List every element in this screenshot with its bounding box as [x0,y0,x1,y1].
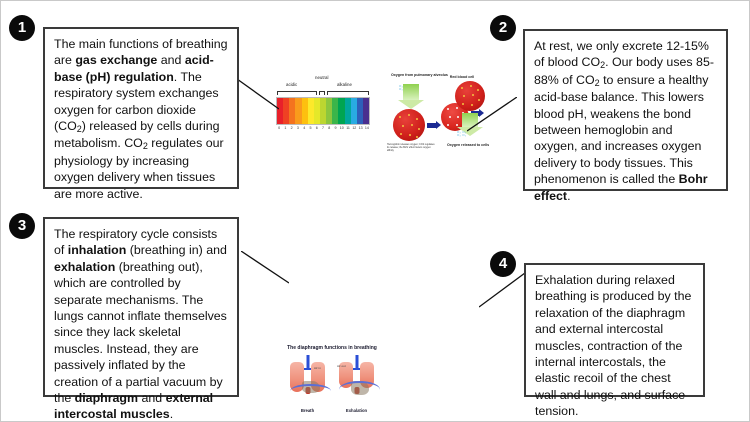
panel-badge-4: 4 [490,251,516,277]
diaphragm-caption-right: Exhalation [335,408,378,413]
diaphragm-curve [290,384,331,398]
panel-textbox-3: The respiratory cycle consists of inhala… [43,217,239,397]
figure-ph-scale: acidic neutral alkaline 0123456789101112… [275,75,371,131]
connector-line-panel-4 [479,273,525,309]
panel-text-1: The main functions of breathing are gas … [54,37,228,201]
ph-band-14 [363,98,369,124]
trachea-icon [355,355,358,369]
diaphragm-title: The diaphragm functions in breathing [286,345,378,351]
panel-text-3: The respiratory cycle consists of inhala… [54,227,227,421]
figure-diaphragm: The diaphragm functions in breathing Air… [286,345,378,412]
panel-textbox-2: At rest, we only excrete 12-15% of blood… [523,29,728,191]
panel-badge-1: 1 [9,15,35,41]
ph-number-14: 14 [364,125,370,131]
ph-scale-brackets [275,91,371,97]
diaphragm-curve [339,381,380,398]
diaphragm-pair: Air in Breath Air out Exhalation [286,354,378,412]
panel-textbox-4: Exhalation during relaxed breathing is p… [524,263,705,397]
infographic-canvas: 1 The main functions of breathing are ga… [0,0,750,422]
ph-label-alkaline: alkaline [337,82,352,87]
diaphragm-unit-exhale: Air out Exhalation [335,354,378,412]
diaphragm-unit-inhale: Air in Breath [286,354,329,412]
panel-badge-3: 3 [9,213,35,239]
ph-label-acidic: acidic [286,82,297,87]
ph-scale-numbers: 01234567891011121314 [276,125,370,131]
ph-scale-color-bar [276,97,370,125]
panel-badge-2: 2 [490,15,516,41]
rbc-caption-bottom-left: Hemoglobin releases oxygen; CO2 regulate… [387,143,435,152]
diaphragm-note-left: Air in [314,366,321,370]
ph-label-neutral: neutral [315,75,328,80]
rbc-label-cell: Red blood cell [447,75,477,79]
trachea-icon [306,355,309,369]
panel-textbox-1: The main functions of breathing are gas … [43,27,239,189]
ph-scale-labels: acidic neutral alkaline [275,75,371,91]
connector-line-panel-3 [241,251,289,285]
red-blood-cell-3 [455,81,485,111]
panel-text-2: At rest, we only excrete 12-15% of blood… [534,39,714,203]
diaphragm-note-right: Air out [337,364,346,368]
connector-line-panel-1 [237,79,279,113]
ph-bracket-alkaline [327,91,369,95]
panel-text-4: Exhalation during relaxed breathing is p… [535,273,691,418]
ph-bracket-acidic [277,91,317,95]
green-arrow-in [403,84,419,100]
transition-arrow-1 [427,123,437,128]
green-arrow-out [462,113,478,127]
ph-bracket-neutral [319,91,325,95]
figure-red-blood-cells: Oxygen from pulmonary alveolus Red blood… [385,73,493,161]
rbc-label-released: Oxygen released to cells [447,143,487,147]
oxygen-molecules-out: O₂ O₂O₂ O₂ [457,131,466,138]
diaphragm-caption-left: Breath [286,408,329,413]
red-blood-cell-1 [393,109,425,141]
rbc-label-alveolus: Oxygen from pulmonary alveolus [391,73,435,77]
